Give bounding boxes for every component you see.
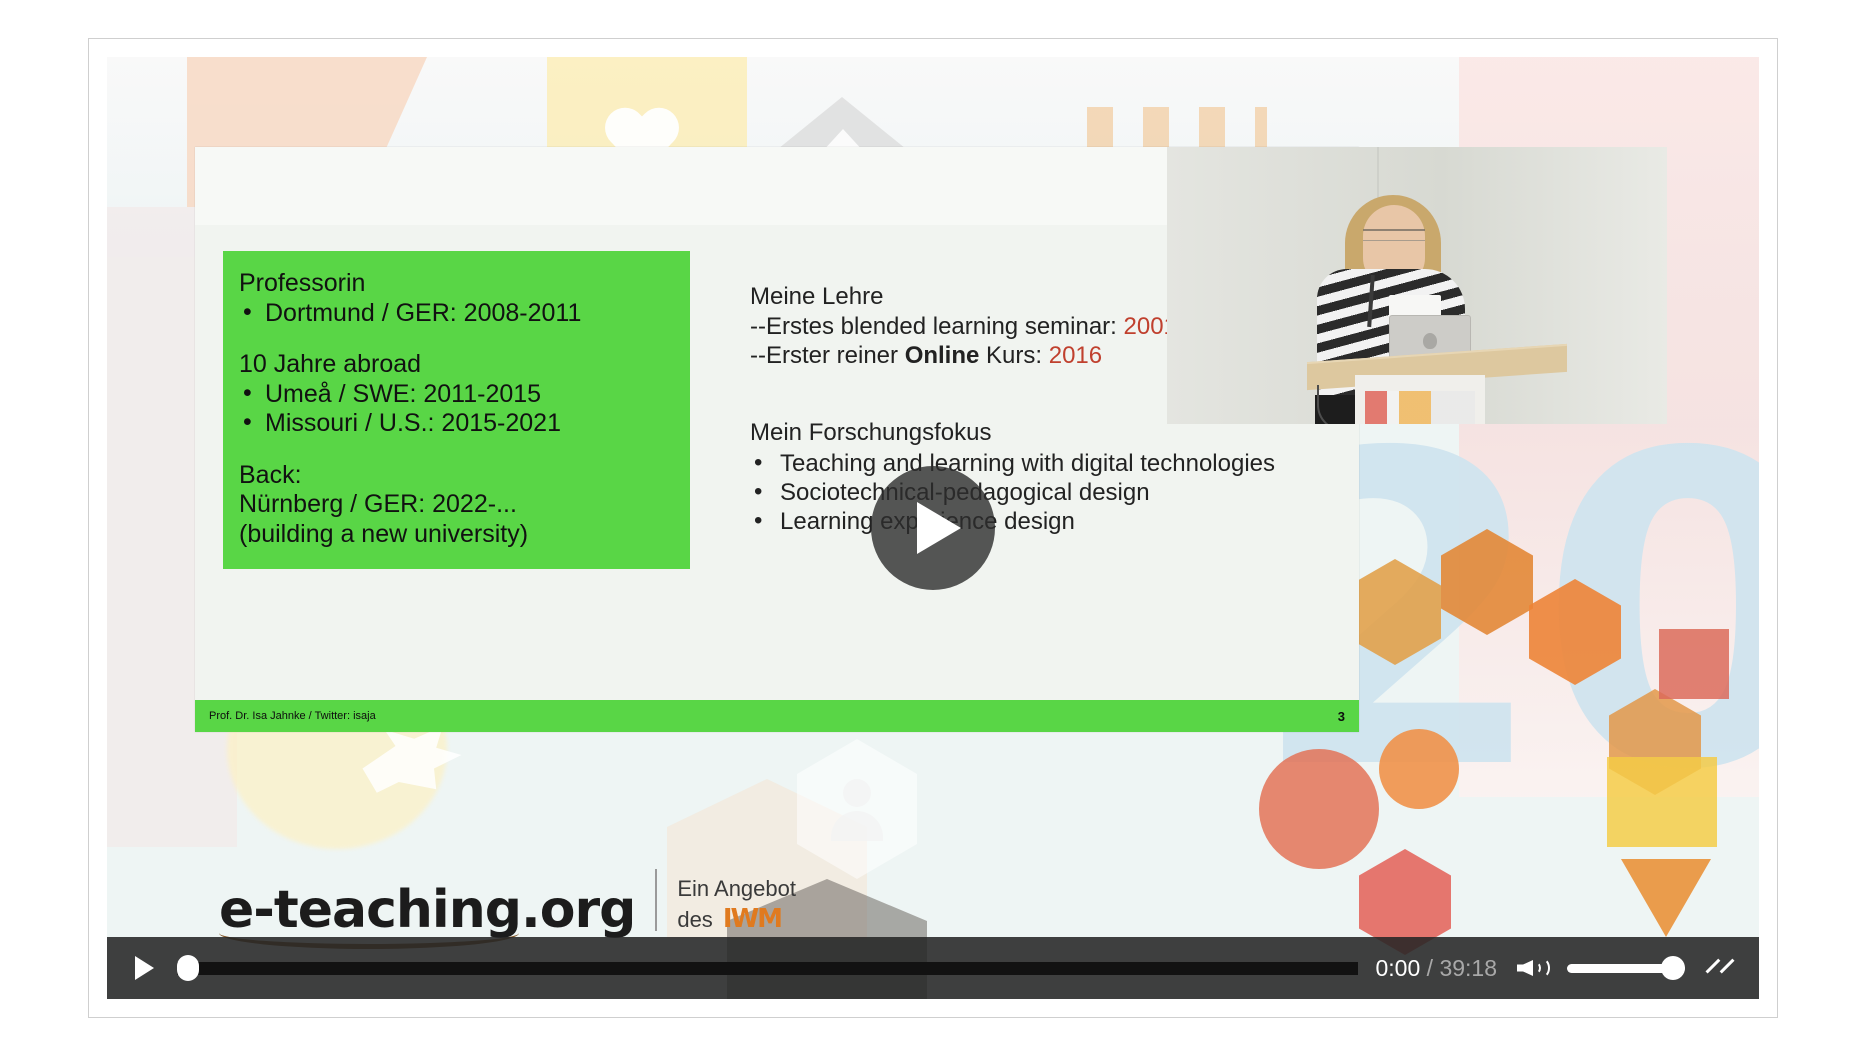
fullscreen-corner-bl (1704, 971, 1717, 984)
slide-footer: Prof. Dr. Isa Jahnke / Twitter: isaja 3 (195, 700, 1359, 732)
logo-divider (655, 869, 657, 931)
teaching-row-2-mid: Kurs: (979, 342, 1048, 369)
yellow-block (1607, 757, 1717, 847)
page-root: 20 (0, 0, 1862, 1052)
current-time: 0:00 (1376, 955, 1421, 981)
teaching-row-1-text: --Erstes blended learning seminar: (750, 313, 1124, 340)
green-heading-1: Professorin (239, 269, 674, 299)
green-heading-2: 10 Jahre abroad (239, 350, 674, 380)
green-bullet-3: Missouri / U.S.: 2015-2021 (239, 409, 674, 439)
green-line-1: Nürnberg / GER: 2022-... (239, 490, 674, 520)
fullscreen-icon[interactable] (1703, 951, 1737, 985)
video-player[interactable]: 20 (107, 57, 1759, 999)
research-bullet-3: Learning experience design (750, 507, 1339, 536)
green-bullet-1: Dortmund / GER: 2008-2011 (239, 299, 674, 329)
duration: 39:18 (1439, 955, 1497, 981)
red-block (1659, 629, 1729, 699)
play-small-icon (135, 956, 154, 980)
lectern-poster (1365, 391, 1475, 424)
speech-circle (1379, 729, 1459, 809)
volume-slider[interactable] (1567, 955, 1685, 981)
hex-orange-2 (1441, 529, 1533, 635)
person-icon (829, 779, 885, 841)
laptop-logo (1423, 333, 1437, 349)
slide-footer-credit: Prof. Dr. Isa Jahnke / Twitter: isaja (209, 710, 376, 722)
hex-orange-1 (1349, 559, 1441, 665)
progress-scrubber[interactable] (177, 955, 199, 981)
progress-track (177, 962, 1358, 975)
fullscreen-corner-br (1723, 971, 1736, 984)
play-button[interactable] (129, 953, 159, 983)
play-icon (917, 502, 961, 554)
green-line-2: (building a new university) (239, 520, 674, 550)
progress-bar[interactable] (177, 955, 1358, 981)
time-display: 0:00 / 39:18 (1376, 955, 1498, 982)
research-bullet-2: Sociotechnical-pedagogical design (750, 478, 1339, 507)
eteaching-logo-band: e-teaching.org Ein Angebot des IWM (219, 869, 796, 935)
time-separator: / (1427, 955, 1433, 981)
cable (1317, 385, 1363, 424)
sound-wave-2 (1534, 958, 1550, 978)
play-overlay-button[interactable] (871, 466, 995, 590)
video-window-frame: 20 (88, 38, 1778, 1018)
research-bullet-1: Teaching and learning with digital techn… (750, 449, 1339, 478)
teaching-row-2-bold: Online (905, 342, 980, 369)
tagline-line-2: des (677, 906, 712, 934)
teaching-row-2-prefix: --Erster reiner (750, 342, 905, 369)
logo-tagline: Ein Angebot des IWM (677, 875, 796, 935)
player-control-bar: 0:00 / 39:18 (107, 937, 1759, 999)
green-heading-3: Back: (239, 461, 674, 491)
volume-knob[interactable] (1661, 956, 1685, 980)
teaching-row-2-year: 2016 (1049, 342, 1102, 369)
speaker-glasses (1363, 229, 1425, 241)
tagline-line-1: Ein Angebot (677, 875, 796, 903)
speaker-video-inset (1167, 147, 1667, 424)
triangle-code (1621, 859, 1711, 937)
volume-icon[interactable] (1515, 953, 1549, 983)
red-circle (1259, 749, 1379, 869)
hex-orange-3 (1529, 579, 1621, 685)
research-block: Mein Forschungsfokus Teaching and learni… (750, 419, 1339, 537)
career-green-box: Professorin Dortmund / GER: 2008-2011 10… (223, 251, 690, 569)
iwm-logo: IWM (723, 903, 781, 936)
eteaching-logo: e-teaching.org (219, 886, 635, 935)
slide-page-number: 3 (1338, 709, 1345, 724)
green-bullet-2: Umeå / SWE: 2011-2015 (239, 380, 674, 410)
